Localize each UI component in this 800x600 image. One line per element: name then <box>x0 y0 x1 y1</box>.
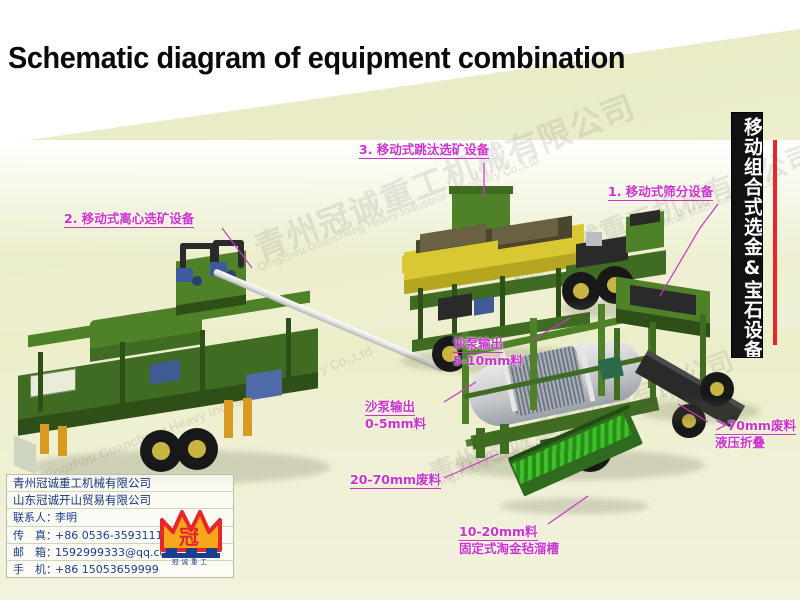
callout-waste-over-70-line2: 液压折叠 <box>715 435 796 450</box>
contact-label-mobile: 手 机： <box>13 561 55 578</box>
callout-waste-20-70-label: 20-70mm废料 <box>350 472 441 489</box>
contact-value-mobile: +86 15053659999 <box>55 563 159 576</box>
page-title: Schematic diagram of equipment combinati… <box>8 40 625 76</box>
crown-monogram: 冠 <box>179 525 199 549</box>
support-jack <box>476 428 485 458</box>
shadow <box>500 498 650 514</box>
contact-company-1: 青州冠诚重工机械有限公司 <box>7 475 233 492</box>
callout-waste-over-70: ＞70mm废料 液压折叠 <box>715 418 796 450</box>
logo-base-block <box>186 548 197 554</box>
cage-post <box>598 304 605 396</box>
callout-pump-out-5-10-line1: 沙泵输出 <box>453 336 503 353</box>
support-jack <box>40 424 49 454</box>
callout-equip-1-label: 1. 移动式筛分设备 <box>608 184 713 201</box>
wheel-hub <box>188 440 206 458</box>
callout-equip-2-label: 2. 移动式离心选矿设备 <box>64 211 194 228</box>
callout-equip-1: 1. 移动式筛分设备 <box>608 184 713 201</box>
logo-base-block <box>206 548 217 554</box>
callout-pump-out-0-5: 沙泵输出 0-5mm料 <box>365 399 426 431</box>
callout-waste-20-70: 20-70mm废料 <box>350 472 441 489</box>
support-jack <box>58 426 67 456</box>
callout-pump-out-0-5-line2: 0-5mm料 <box>365 416 426 431</box>
callout-equip-2: 2. 移动式离心选矿设备 <box>64 211 194 228</box>
frame-post <box>200 330 205 400</box>
cage-post <box>530 318 537 410</box>
logo-base-block <box>166 548 177 554</box>
frame-post <box>38 352 43 412</box>
callout-equip-3-label: 3. 移动式跳汰选矿设备 <box>359 142 489 159</box>
callout-sluice-10-20-line1: 10-20mm料 <box>459 524 538 541</box>
contact-label-fax: 传 真： <box>13 527 55 544</box>
pump-box <box>474 296 494 315</box>
vertical-title-banner: 移动组合式选金&宝石设备示意图 <box>731 112 763 358</box>
frame-post <box>418 288 423 344</box>
contact-value-person: 李明 <box>55 511 77 524</box>
support-jack <box>243 398 252 436</box>
motor-cap <box>192 276 202 286</box>
wheel-hub <box>573 283 589 299</box>
wheel-hub <box>710 382 724 396</box>
control-panel <box>586 232 602 246</box>
centrifuge-motor <box>176 268 193 282</box>
schematic-canvas: 青州冠诚重工机械有限公司 Qingzhou Guancheng Heavy In… <box>0 0 800 600</box>
logo-caption: 冠诚重工 <box>160 556 222 566</box>
wheel-hub <box>152 442 170 460</box>
callout-pump-out-5-10-line2: 5-10mm料 <box>453 353 523 368</box>
banner-red-accent-bar <box>773 140 777 345</box>
frame-post <box>120 342 125 408</box>
support-jack <box>224 400 233 438</box>
contact-label-person: 联系人： <box>13 509 55 526</box>
contact-value-fax: +86 0536-3593111 <box>55 529 163 542</box>
callout-sluice-10-20-line2: 固定式淘金毡溜槽 <box>459 541 559 556</box>
callout-equip-3: 3. 移动式跳汰选矿设备 <box>359 142 489 159</box>
callout-pump-out-5-10: 沙泵输出 5-10mm料 <box>453 336 523 368</box>
contact-label-email: 邮 箱： <box>13 544 55 561</box>
frame-post <box>286 318 291 388</box>
inlet-pipe <box>238 240 244 268</box>
callout-pump-out-0-5-line1: 沙泵输出 <box>365 399 415 416</box>
hopper-rim <box>449 186 513 194</box>
support-jack <box>500 424 509 454</box>
callout-waste-over-70-line1: ＞70mm废料 <box>715 418 796 435</box>
callout-sluice-10-20: 10-20mm料 固定式淘金毡溜槽 <box>459 524 559 556</box>
